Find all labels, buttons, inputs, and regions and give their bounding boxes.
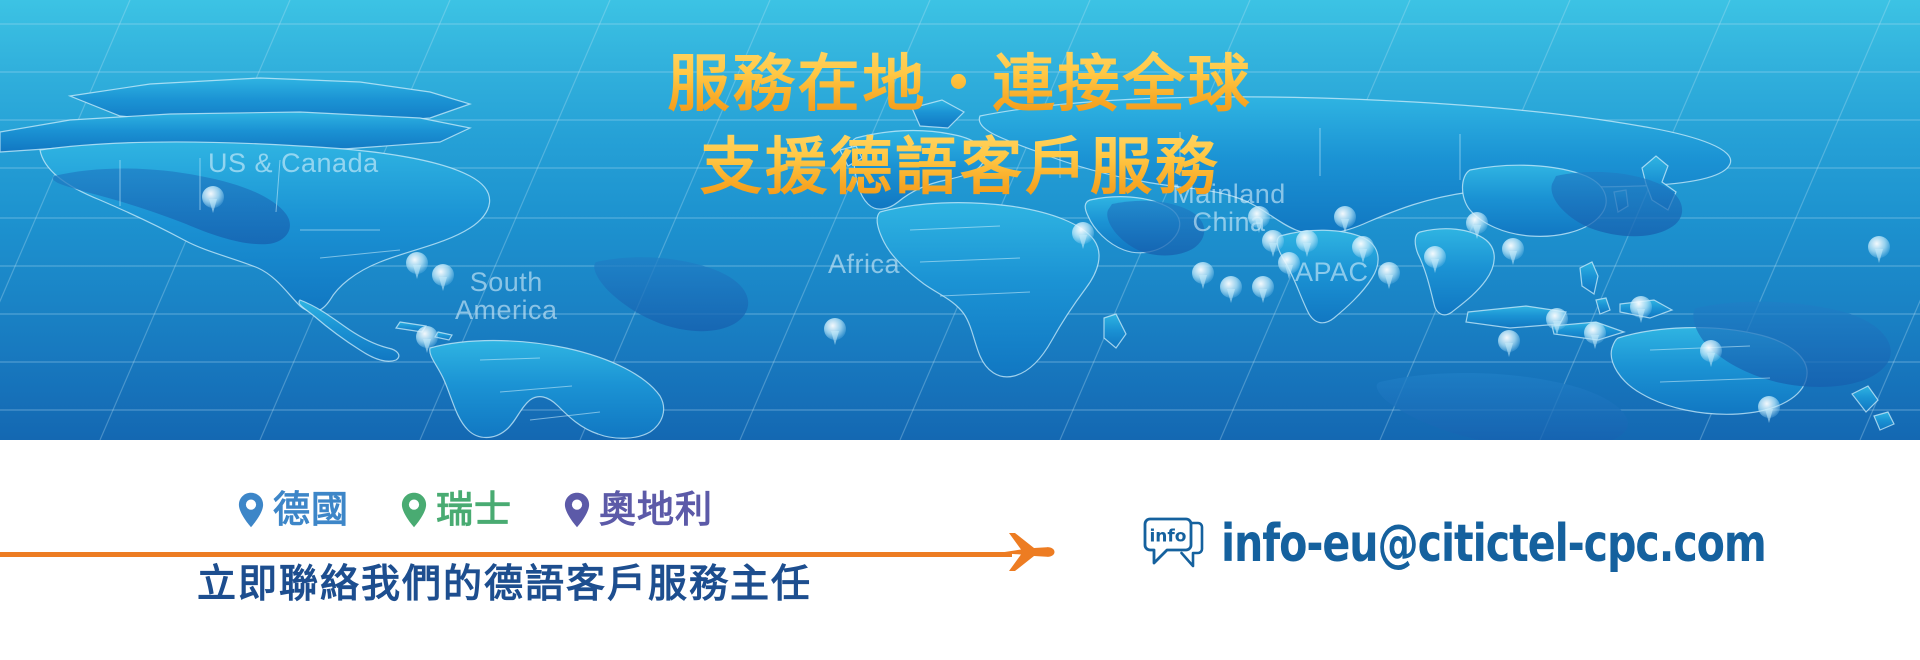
promo-banner: US & Canada South America Africa Mainlan…: [0, 0, 1920, 660]
location-pin-icon: [401, 492, 427, 528]
world-map-graphic: [0, 0, 1920, 440]
country-label: 奧地利: [599, 491, 713, 528]
location-pin-icon: [564, 492, 590, 528]
location-pin-icon: [238, 492, 264, 528]
country-list: 德國 瑞士 奧地利: [238, 491, 713, 528]
country-label: 瑞士: [436, 491, 512, 528]
world-map-hero: US & Canada South America Africa Mainlan…: [0, 0, 1920, 440]
info-speech-bubble-icon: info: [1143, 516, 1205, 572]
country-label: 德國: [273, 491, 349, 528]
contact-panel: 德國 瑞士 奧地利 立即聯絡我們的德語客戶服務主任: [0, 440, 1920, 660]
info-icon-label: info: [1149, 527, 1186, 547]
country-item-germany[interactable]: 德國: [238, 491, 349, 528]
country-item-switzerland[interactable]: 瑞士: [401, 491, 512, 528]
orange-divider-rule: [0, 552, 1012, 557]
tagline-text: 立即聯絡我們的德語客戶服務主任: [197, 565, 812, 606]
country-item-austria[interactable]: 奧地利: [564, 491, 713, 528]
email-address[interactable]: info-eu@citictel-cpc.com: [1221, 518, 1766, 570]
airplane-icon: [995, 525, 1057, 581]
email-contact[interactable]: info info-eu@citictel-cpc.com: [1143, 516, 1840, 572]
